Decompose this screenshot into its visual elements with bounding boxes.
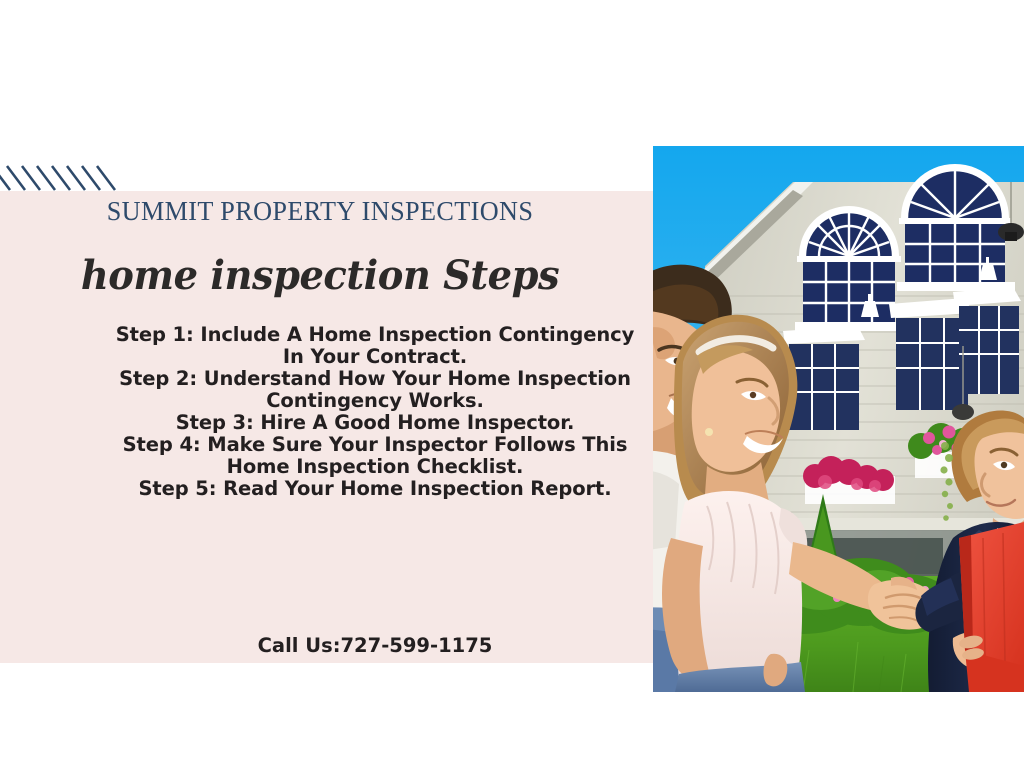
step-line: In Your Contract. [60, 346, 690, 368]
step-line: Step 2: Understand How Your Home Inspect… [60, 368, 690, 390]
step-line: Step 3: Hire A Good Home Inspector. [60, 412, 690, 434]
step-line: Step 1: Include A Home Inspection Contin… [60, 324, 690, 346]
slide-canvas: SUMMIT PROPERTY INSPECTIONS home inspect… [0, 0, 1024, 768]
hero-photo [653, 146, 1024, 692]
page-title: SUMMIT PROPERTY INSPECTIONS [10, 196, 631, 227]
headline: home inspection Steps [13, 252, 627, 299]
step-line: Home Inspection Checklist. [60, 456, 690, 478]
diagonal-hatch-lines-icon [0, 164, 118, 192]
step-line: Contingency Works. [60, 390, 690, 412]
steps-list: Step 1: Include A Home Inspection Contin… [60, 324, 690, 500]
step-line: Step 5: Read Your Home Inspection Report… [60, 478, 690, 500]
step-line: Step 4: Make Sure Your Inspector Follows… [60, 434, 690, 456]
call-us-text: Call Us:727-599-1175 [60, 634, 690, 657]
